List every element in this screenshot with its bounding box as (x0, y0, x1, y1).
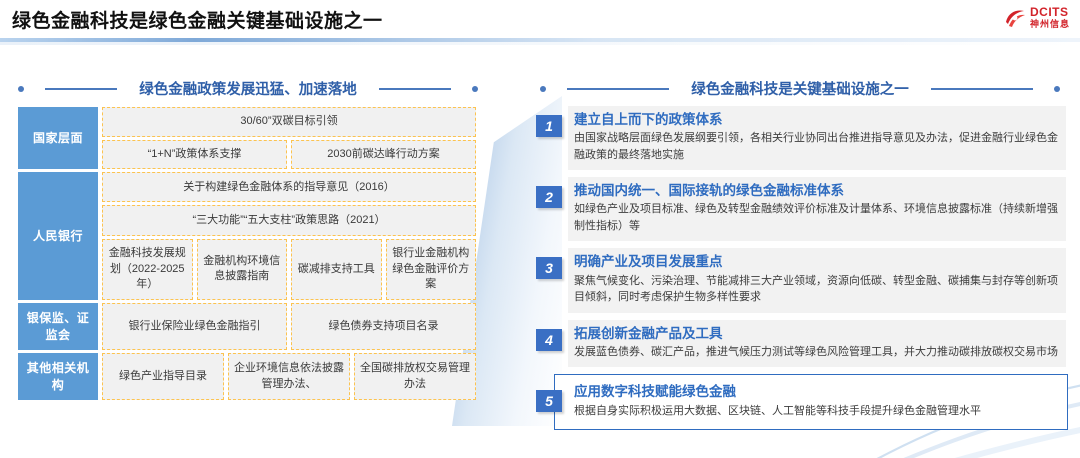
bullet-dot-icon (1054, 86, 1060, 92)
policy-cell[interactable]: 全国碳排放权交易管理办法 (354, 353, 476, 400)
table-subrow: 30/60”双碳目标引领 (102, 107, 476, 137)
policy-cell[interactable]: 银行业金融机构绿色金融评价方案 (386, 239, 477, 300)
table-row: 人民银行关于构建绿色金融体系的指导意见（2016）“三大功能”“五大支柱”政策思… (18, 172, 476, 300)
key-point-number-badge: 2 (536, 186, 562, 208)
key-point-body: 应用数字科技赋能绿色金融根据自身实际积极运用大数据、区块链、人工智能等科技手段提… (568, 378, 1062, 426)
dcits-swoosh-icon (1004, 8, 1026, 28)
key-point-description: 聚焦气候变化、污染治理、节能减排三大产业领域，资源向低碳、转型金融、碳捕集与封存… (574, 273, 1058, 306)
key-point-description: 由国家战略层面绿色发展纲要引领，各相关行业协同出台推进指导意见及办法，促进金融行… (574, 130, 1058, 163)
key-point-item[interactable]: 2推动国内统一、国际接轨的绿色金融标准体系如绿色产业及项目标准、绿色及转型金融绩… (536, 177, 1066, 241)
policy-cell[interactable]: 绿色债券支持项目名录 (291, 303, 476, 350)
key-point-title: 明确产业及项目发展重点 (574, 253, 1058, 271)
key-point-title: 拓展创新金融产品及工具 (574, 325, 1058, 343)
key-point-body: 拓展创新金融产品及工具发展蓝色债券、碳汇产品，推进气候压力测试等绿色风险管理工具… (568, 320, 1066, 368)
logo-text-cn: 神州信息 (1030, 20, 1070, 29)
row-label: 人民银行 (18, 172, 98, 300)
table-row: 银保监、证监会银行业保险业绿色金融指引绿色债券支持项目名录 (18, 303, 476, 350)
section-header-right: 绿色金融科技是关键基础设施之一 (540, 78, 1060, 99)
key-point-body: 明确产业及项目发展重点聚焦气候变化、污染治理、节能减排三大产业领域，资源向低碳、… (568, 248, 1066, 312)
policy-cell[interactable]: 绿色产业指导目录 (102, 353, 224, 400)
key-point-title: 应用数字科技赋能绿色金融 (574, 383, 1054, 401)
header-rule-right (379, 88, 451, 90)
row-body: 30/60”双碳目标引领“1+N”政策体系支撑2030前碳达峰行动方案 (98, 107, 476, 169)
key-point-item[interactable]: 1建立自上而下的政策体系由国家战略层面绿色发展纲要引领，各相关行业协同出台推进指… (536, 106, 1066, 170)
row-body: 银行业保险业绿色金融指引绿色债券支持项目名录 (98, 303, 476, 350)
key-point-item[interactable]: 4拓展创新金融产品及工具发展蓝色债券、碳汇产品，推进气候压力测试等绿色风险管理工… (536, 320, 1066, 368)
key-point-number-badge: 4 (536, 329, 562, 351)
bullet-dot-icon (18, 86, 24, 92)
section-header-left: 绿色金融政策发展迅猛、加速落地 (18, 78, 478, 99)
key-point-description: 根据自身实际积极运用大数据、区块链、人工智能等科技手段提升绿色金融管理水平 (574, 403, 1054, 420)
key-point-body: 建立自上而下的政策体系由国家战略层面绿色发展纲要引领，各相关行业协同出台推进指导… (568, 106, 1066, 170)
table-subrow: 银行业保险业绿色金融指引绿色债券支持项目名录 (102, 303, 476, 350)
policy-cell[interactable]: 30/60”双碳目标引领 (102, 107, 476, 137)
policy-cell[interactable]: 金融科技发展规划（2022-2025年） (102, 239, 193, 300)
table-subrow: “1+N”政策体系支撑2030前碳达峰行动方案 (102, 140, 476, 170)
table-subrow: 金融科技发展规划（2022-2025年）金融机构环境信息披露指南碳减排支持工具银… (102, 239, 476, 300)
row-label: 国家层面 (18, 107, 98, 169)
logo-text-en: DCITS (1030, 6, 1070, 18)
table-row: 国家层面30/60”双碳目标引领“1+N”政策体系支撑2030前碳达峰行动方案 (18, 107, 476, 169)
section-title-right: 绿色金融科技是关键基础设施之一 (691, 78, 909, 99)
policy-cell[interactable]: 金融机构环境信息披露指南 (197, 239, 288, 300)
header-rule-left (567, 88, 669, 90)
row-body: 关于构建绿色金融体系的指导意见（2016）“三大功能”“五大支柱”政策思路（20… (98, 172, 476, 300)
key-points-list: 1建立自上而下的政策体系由国家战略层面绿色发展纲要引领，各相关行业协同出台推进指… (536, 106, 1066, 437)
policy-cell[interactable]: 银行业保险业绿色金融指引 (102, 303, 287, 350)
table-subrow: “三大功能”“五大支柱”政策思路（2021） (102, 205, 476, 235)
table-row: 其他相关机构绿色产业指导目录企业环境信息依法披露管理办法、全国碳排放权交易管理办… (18, 353, 476, 400)
policy-table: 国家层面30/60”双碳目标引领“1+N”政策体系支撑2030前碳达峰行动方案人… (18, 107, 476, 403)
table-subrow: 关于构建绿色金融体系的指导意见（2016） (102, 172, 476, 202)
slide-canvas: 绿色金融科技是绿色金融关键基础设施之一 DCITS 神州信息 绿色金融政策发展迅… (0, 0, 1080, 458)
header-rule-right (931, 88, 1033, 90)
policy-cell[interactable]: 企业环境信息依法披露管理办法、 (228, 353, 350, 400)
policy-cell[interactable]: 碳减排支持工具 (291, 239, 382, 300)
key-point-body: 推动国内统一、国际接轨的绿色金融标准体系如绿色产业及项目标准、绿色及转型金融绩效… (568, 177, 1066, 241)
key-point-description: 发展蓝色债券、碳汇产品，推进气候压力测试等绿色风险管理工具，并大力推动碳排放碳权… (574, 344, 1058, 361)
policy-cell[interactable]: 关于构建绿色金融体系的指导意见（2016） (102, 172, 476, 202)
policy-cell[interactable]: “1+N”政策体系支撑 (102, 140, 287, 170)
policy-cell[interactable]: “三大功能”“五大支柱”政策思路（2021） (102, 205, 476, 235)
bullet-dot-icon (472, 86, 478, 92)
section-title-left: 绿色金融政策发展迅猛、加速落地 (139, 78, 357, 99)
row-label: 银保监、证监会 (18, 303, 98, 350)
key-point-number-badge: 3 (536, 257, 562, 279)
row-label: 其他相关机构 (18, 353, 98, 400)
key-point-number-badge: 5 (536, 390, 562, 412)
key-point-description: 如绿色产业及项目标准、绿色及转型金融绩效评价标准及计量体系、环境信息披露标准（持… (574, 201, 1058, 234)
logo-wordmark: DCITS 神州信息 (1030, 6, 1070, 29)
key-point-item[interactable]: 3明确产业及项目发展重点聚焦气候变化、污染治理、节能减排三大产业领域，资源向低碳… (536, 248, 1066, 312)
key-point-title: 推动国内统一、国际接轨的绿色金融标准体系 (574, 182, 1058, 200)
brand-logo: DCITS 神州信息 (1004, 6, 1070, 29)
policy-cell[interactable]: 2030前碳达峰行动方案 (291, 140, 476, 170)
bullet-dot-icon (540, 86, 546, 92)
row-body: 绿色产业指导目录企业环境信息依法披露管理办法、全国碳排放权交易管理办法 (98, 353, 476, 400)
header-rule-left (45, 88, 117, 90)
key-point-number-badge: 1 (536, 115, 562, 137)
page-title: 绿色金融科技是绿色金融关键基础设施之一 (12, 6, 383, 33)
table-subrow: 绿色产业指导目录企业环境信息依法披露管理办法、全国碳排放权交易管理办法 (102, 353, 476, 400)
title-divider-secondary (0, 42, 1080, 45)
key-point-title: 建立自上而下的政策体系 (574, 111, 1058, 129)
key-point-item[interactable]: 5应用数字科技赋能绿色金融根据自身实际积极运用大数据、区块链、人工智能等科技手段… (536, 374, 1066, 430)
